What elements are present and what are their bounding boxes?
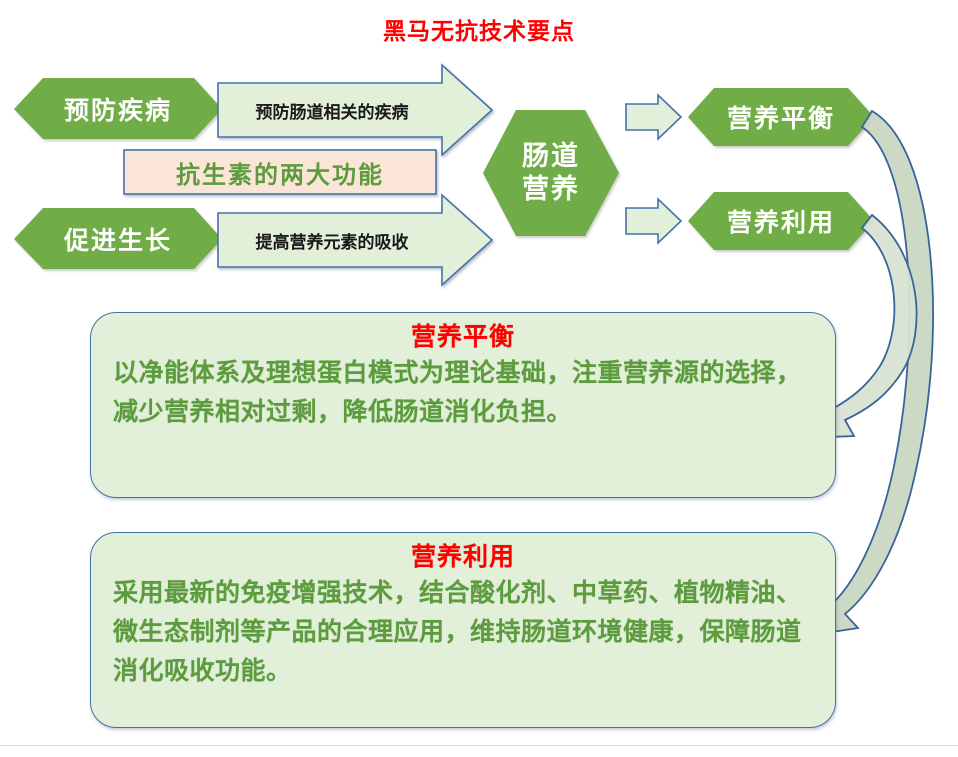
panel-nutrition-balance-title: 营养平衡: [113, 321, 813, 353]
pink-box-shape[interactable]: [124, 150, 436, 194]
small-arrow-bottom-shape: [626, 199, 681, 243]
footer-divider: [0, 745, 958, 746]
arrow-box-improve-nutrient-absorption-shape[interactable]: [218, 195, 492, 285]
chevron-prevent-disease-shape[interactable]: [14, 78, 222, 139]
arrow-box-prevent-intestinal-disease-shape[interactable]: [218, 65, 492, 155]
chevron-nutrition-balance-shape[interactable]: [688, 88, 874, 146]
panel-nutrition-balance[interactable]: 营养平衡 以净能体系及理想蛋白模式为理论基础，注重营养源的选择，减少营养相对过剩…: [90, 312, 836, 498]
chevron-promote-growth-shape[interactable]: [14, 208, 222, 269]
small-arrow-top-shape: [626, 95, 681, 139]
hexagon-intestinal-nutrition-shape[interactable]: [483, 110, 619, 236]
chevron-nutrition-utilization-shape[interactable]: [688, 192, 874, 250]
panel-nutrition-balance-body: 以净能体系及理想蛋白模式为理论基础，注重营养源的选择，减少营养相对过剩，降低肠道…: [113, 353, 813, 431]
slide-canvas: 黑马无抗技术要点: [0, 0, 958, 757]
panel-nutrition-utilization[interactable]: 营养利用 采用最新的免疫增强技术，结合酸化剂、中草药、植物精油、微生态制剂等产品…: [90, 532, 836, 728]
panel-nutrition-utilization-body: 采用最新的免疫增强技术，结合酸化剂、中草药、植物精油、微生态制剂等产品的合理应用…: [113, 573, 813, 690]
panel-nutrition-utilization-title: 营养利用: [113, 541, 813, 573]
